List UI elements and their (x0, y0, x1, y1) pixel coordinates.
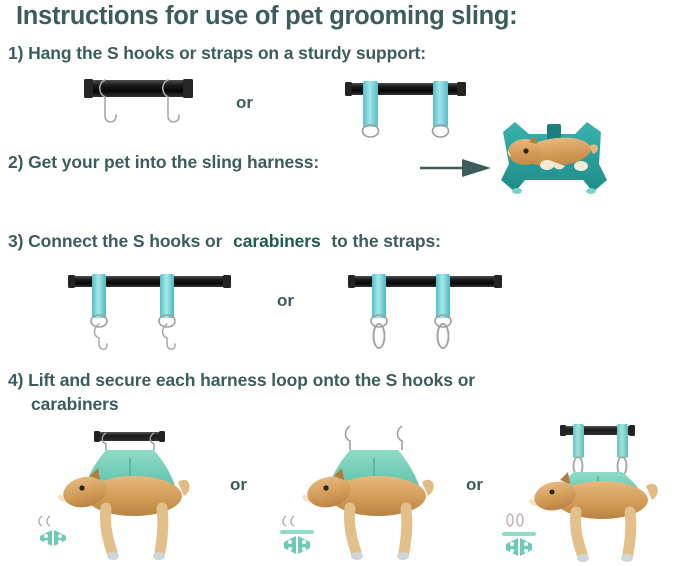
step-2-text: 2) Get your pet into the sling harness: (8, 152, 319, 173)
separator-or-2: or (277, 291, 294, 311)
step-2-label: Get your pet into the sling harness: (28, 152, 319, 172)
support-bar-cap-left (68, 275, 75, 288)
separator-or-1: or (236, 93, 253, 113)
figure-dog-in-sling-top-view (495, 118, 615, 208)
sling-foot-left (512, 188, 522, 194)
s-hook-left (346, 426, 351, 450)
figure-straps-with-s-hooks (68, 268, 238, 356)
step-3-label-before: Connect the S hooks or (28, 231, 222, 251)
support-bar-cap-right (183, 79, 193, 98)
figure-dog-sling-bar-carabiners (500, 420, 675, 565)
sling-center-strap (547, 124, 561, 140)
dog-leg-rear (404, 508, 407, 552)
page-title: Instructions for use of pet grooming sli… (16, 2, 517, 31)
step-1-text: 1) Hang the S hooks or straps on a sturd… (8, 43, 426, 64)
step-4-text-line2: carabiners (31, 394, 119, 415)
dog-eye (79, 485, 84, 490)
accessory-sling-hole-2 (58, 534, 62, 538)
s-hook-right (398, 426, 403, 450)
accessory-s-hooks (283, 516, 294, 526)
support-bar-cap-left (94, 431, 100, 442)
strap-right (433, 81, 448, 127)
support-bar-cap-right (629, 425, 635, 436)
accessory-sling-hole-1 (44, 534, 48, 538)
s-hook-left (95, 324, 108, 349)
strap-left (92, 274, 106, 318)
support-bar-cap-left (348, 275, 355, 288)
dog-leg-front (349, 508, 356, 552)
support-bar-cap-right (223, 275, 231, 288)
right-arrow-icon (420, 157, 492, 179)
accessory-folded-sling (506, 538, 532, 556)
accessory-sling-hole-4 (524, 549, 528, 553)
step-3-text: 3) Connect the S hooks or carabiners to … (8, 231, 441, 252)
step-1-number: 1) (8, 43, 23, 63)
accessory-sling-hole-3 (44, 540, 48, 544)
instruction-sheet: Instructions for use of pet grooming sli… (0, 0, 679, 566)
figure-dog-sling-s-hooks-only (278, 420, 453, 565)
accessory-sling-hole-3 (288, 547, 292, 551)
separator-or-4: or (466, 475, 483, 495)
dog-paw-front (107, 552, 119, 560)
support-bar-cap-right (494, 275, 502, 288)
sling-foot-right (586, 188, 596, 194)
step-4-text: 4) Lift and secure each harness loop ont… (8, 370, 475, 391)
accessory-sling-hole-3 (510, 549, 514, 553)
dog-paw-rear (153, 552, 165, 560)
support-bar-cap-left (84, 79, 93, 98)
s-hook-right (163, 324, 176, 349)
accessory-bar (502, 532, 536, 536)
dog-paw-rear (397, 552, 409, 560)
accessory-folded-sling (40, 530, 66, 546)
step-1-label: Hang the S hooks or straps on a sturdy s… (28, 43, 426, 63)
strap-right (617, 424, 628, 458)
support-bar-cap-right (457, 82, 466, 96)
strap-right (436, 274, 450, 318)
figure-dog-sling-bar-s-hooks (38, 420, 223, 565)
step-3-label-after: to the straps: (331, 231, 440, 251)
accessory-sling-hole-1 (510, 542, 514, 546)
support-bar-cap-right (159, 431, 165, 442)
step-3-highlight-carabiners: carabiners (227, 231, 327, 252)
dog-paw-front (351, 552, 363, 560)
accessory-s-hooks (39, 516, 50, 526)
dog-leg-front (105, 508, 112, 552)
strap-left (363, 81, 378, 127)
dog-leg-front (575, 512, 582, 554)
dog-paw-front (577, 554, 589, 562)
separator-or-3: or (230, 475, 247, 495)
dog-eye (323, 485, 328, 490)
accessory-sling-hole-2 (524, 542, 528, 546)
accessory-carabiner-2 (517, 514, 523, 526)
dog-leg-rear (628, 512, 631, 554)
accessory-bar (280, 530, 314, 534)
dog-eye (523, 148, 528, 153)
dog-paw-rear (621, 554, 633, 562)
strap-left (372, 274, 386, 318)
support-bar-cap-left (560, 425, 566, 436)
figure-straps-with-carabiners (348, 268, 508, 356)
accessory-carabiner-1 (507, 514, 513, 526)
accessory-sling-hole-4 (58, 540, 62, 544)
strap-right (160, 274, 174, 318)
dog-tail (646, 484, 658, 500)
support-bar-cap-left (345, 82, 352, 96)
accessory-sling-hole-4 (302, 547, 306, 551)
step-4-number: 4) (8, 370, 23, 390)
accessory-folded-sling (284, 536, 310, 554)
dog-eye (550, 490, 555, 495)
strap-left (573, 424, 584, 458)
step-3-number: 3) (8, 231, 23, 251)
dog-paw-rear (574, 161, 588, 171)
accessory-sling-hole-2 (302, 540, 306, 544)
dog-paw-front (540, 160, 554, 170)
figure-bar-with-straps (345, 76, 485, 142)
accessory-sling-hole-1 (288, 540, 292, 544)
dog-leg-rear (160, 508, 163, 552)
step-2-number: 2) (8, 152, 23, 172)
step-4-label: Lift and secure each harness loop onto t… (28, 370, 475, 390)
figure-bar-with-s-hooks (84, 76, 214, 138)
